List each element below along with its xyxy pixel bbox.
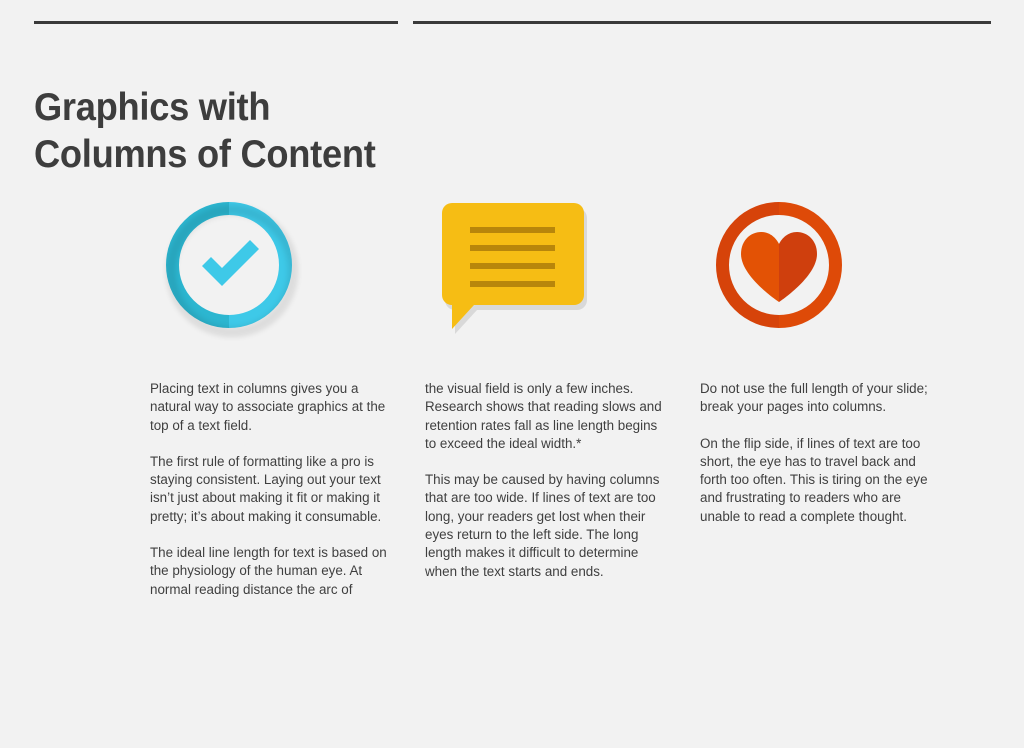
speech-bubble-glyph xyxy=(442,203,594,335)
column-1-paragraph-1: Placing text in columns gives you a natu… xyxy=(150,380,396,435)
top-rule-left xyxy=(34,21,398,24)
column-1-paragraph-2: The first rule of formatting like a pro … xyxy=(150,453,396,526)
column-2-text: the visual field is only a few inches. R… xyxy=(425,380,671,581)
column-2-icon-area xyxy=(425,190,671,338)
heart-circle-icon xyxy=(712,198,846,332)
page-title: Graphics with Columns of Content xyxy=(34,84,518,178)
slide-canvas: Graphics with Columns of Content xyxy=(0,0,1024,748)
speech-bubble-icon xyxy=(442,203,594,335)
column-2: the visual field is only a few inches. R… xyxy=(425,190,671,338)
page-title-line-1: Graphics with xyxy=(34,84,518,131)
column-2-paragraph-1: the visual field is only a few inches. R… xyxy=(425,380,671,453)
page-title-line-2: Columns of Content xyxy=(34,131,518,178)
column-1-icon-area xyxy=(150,190,396,338)
column-3-icon-area xyxy=(700,190,946,338)
column-1-paragraph-3: The ideal line length for text is based … xyxy=(150,544,396,599)
column-3-paragraph-2: On the flip side, if lines of text are t… xyxy=(700,435,932,526)
check-circle-icon xyxy=(162,198,296,332)
check-circle-shadow xyxy=(165,204,299,338)
column-3-paragraph-1: Do not use the full length of your slide… xyxy=(700,380,932,417)
column-3: Do not use the full length of your slide… xyxy=(700,190,946,338)
top-rule-right xyxy=(413,21,991,24)
column-3-text: Do not use the full length of your slide… xyxy=(700,380,932,526)
column-2-paragraph-2: This may be caused by having columns tha… xyxy=(425,471,671,581)
heart-circle-glyph xyxy=(712,198,846,332)
column-1-text: Placing text in columns gives you a natu… xyxy=(150,380,396,599)
column-1: Placing text in columns gives you a natu… xyxy=(150,190,396,338)
content-columns: Placing text in columns gives you a natu… xyxy=(0,190,1024,660)
